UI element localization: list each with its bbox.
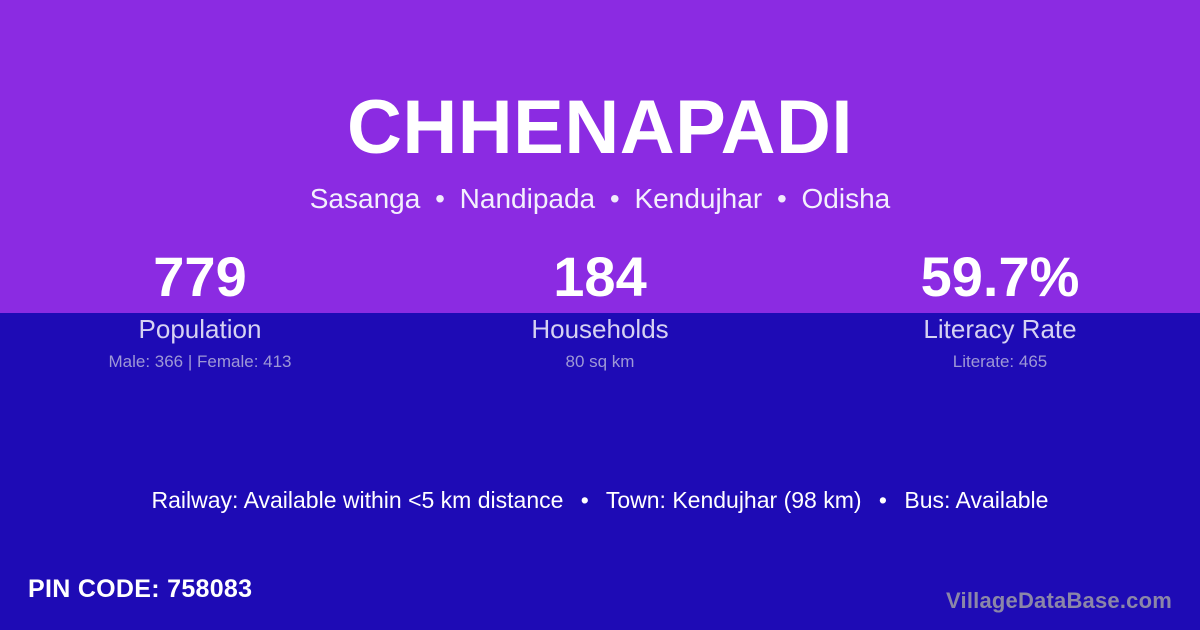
breadcrumb-separator-icon: • bbox=[770, 183, 794, 214]
stat-population: 779 Population Male: 366 | Female: 413 bbox=[0, 244, 400, 373]
stats-row: 779 Population Male: 366 | Female: 413 1… bbox=[0, 244, 1200, 373]
stat-label: Literacy Rate bbox=[800, 313, 1200, 345]
amenity-railway: Railway: Available within <5 km distance bbox=[152, 487, 564, 513]
stat-sublabel: Literate: 465 bbox=[800, 351, 1200, 373]
amenity-bus: Bus: Available bbox=[904, 487, 1048, 513]
amenity-separator-icon: • bbox=[570, 487, 600, 513]
village-info-card: CHHENAPADI Sasanga • Nandipada • Kendujh… bbox=[0, 0, 1200, 630]
breadcrumb-state: Odisha bbox=[802, 183, 891, 214]
breadcrumb-block: Nandipada bbox=[460, 183, 595, 214]
stat-value: 184 bbox=[400, 244, 800, 310]
brand-watermark: VillageDataBase.com bbox=[946, 586, 1172, 616]
breadcrumb: Sasanga • Nandipada • Kendujhar • Odisha bbox=[0, 181, 1200, 217]
amenities-line: Railway: Available within <5 km distance… bbox=[0, 484, 1200, 516]
stat-value: 779 bbox=[0, 244, 400, 310]
pin-code: PIN CODE: 758083 bbox=[28, 573, 252, 605]
breadcrumb-separator-icon: • bbox=[603, 183, 627, 214]
stat-label: Households bbox=[400, 313, 800, 345]
stat-label: Population bbox=[0, 313, 400, 345]
breadcrumb-separator-icon: • bbox=[428, 183, 452, 214]
stat-households: 184 Households 80 sq km bbox=[400, 244, 800, 373]
stat-value: 59.7% bbox=[800, 244, 1200, 310]
stat-sublabel: 80 sq km bbox=[400, 351, 800, 373]
breadcrumb-panchayat: Sasanga bbox=[310, 183, 421, 214]
breadcrumb-district: Kendujhar bbox=[635, 183, 763, 214]
amenity-separator-icon: • bbox=[868, 487, 898, 513]
village-title: CHHENAPADI bbox=[0, 82, 1200, 174]
card-footer: PIN CODE: 758083 VillageDataBase.com bbox=[0, 568, 1200, 630]
stat-literacy-rate: 59.7% Literacy Rate Literate: 465 bbox=[800, 244, 1200, 373]
stat-sublabel: Male: 366 | Female: 413 bbox=[0, 351, 400, 373]
amenity-town: Town: Kendujhar (98 km) bbox=[606, 487, 862, 513]
